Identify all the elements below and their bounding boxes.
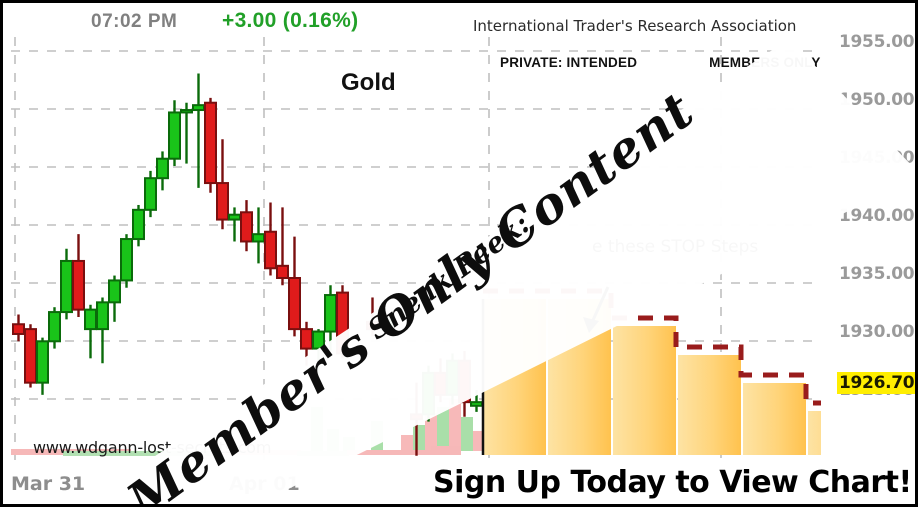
volume-bars: [311, 399, 485, 451]
price-tick-1950: 1950.00: [839, 90, 914, 110]
price-tick-1945: 1945.00: [839, 148, 914, 168]
price-tick-1955: 1955.00: [839, 32, 914, 52]
price-tick-1935: 1935.00: [839, 264, 914, 284]
organization-name: International Trader's Research Associat…: [473, 17, 796, 35]
quote-change: +3.00 (0.16%): [222, 9, 358, 33]
current-price-badge: 1926.70: [837, 372, 916, 394]
stop-steps-note: e these STOP Steps: [592, 237, 758, 257]
signup-cta-text[interactable]: Sign Up Today to View Chart!: [433, 465, 912, 500]
chart-screenshot: 07:02 PM +3.00 (0.16%) International Tra…: [0, 0, 918, 507]
quote-time: 07:02 PM: [91, 11, 177, 33]
chart-title: Gold: [341, 69, 396, 97]
price-tick-1930: 1930.00: [839, 322, 914, 342]
price-axis: 1955.00 1950.00 1945.00 1940.00 1935.00 …: [831, 3, 918, 507]
price-tick-1940: 1940.00: [839, 206, 914, 226]
x-tick-mar-31: Mar 31: [11, 473, 85, 495]
x-tick-apr-01: Apr 01: [229, 473, 300, 495]
site-url-watermark: www.wdgann-lost-secrets.com: [33, 438, 271, 457]
